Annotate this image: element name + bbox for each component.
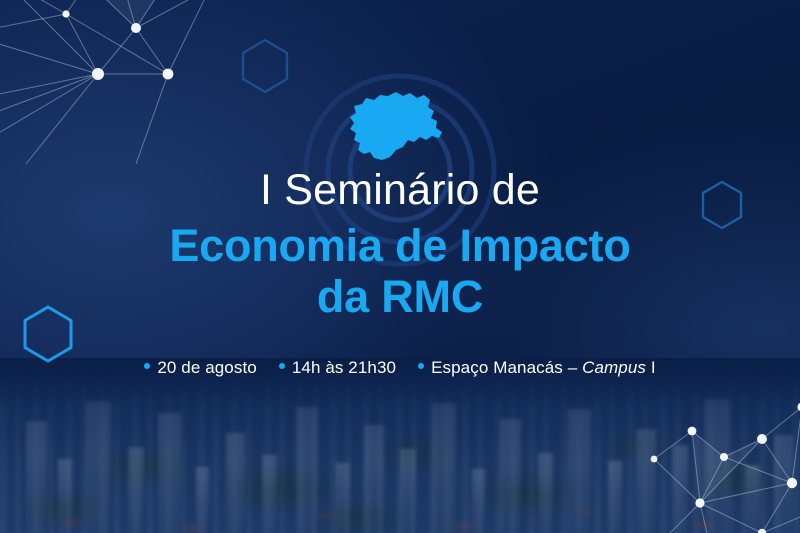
detail-item-date: 20 de agosto [144,358,257,378]
event-details: 20 de agosto 14h às 21h30 Espaço Manacás… [0,358,800,378]
headline-line-3: da RMC [0,271,800,322]
venue-name: Espaço Manacás – [431,358,582,377]
bullet-icon [144,363,150,369]
detail-venue-text: Espaço Manacás – Campus I [431,358,656,378]
region-map-icon [350,92,442,160]
bullet-icon [418,363,424,369]
aerial-cityscape-photo [0,358,800,533]
headline-block: I Seminário de Economia de Impacto da RM… [0,168,800,322]
venue-campus-number: I [646,358,656,377]
event-promo-banner: I Seminário de Economia de Impacto da RM… [0,0,800,533]
detail-item-time: 14h às 21h30 [279,358,396,378]
detail-time-text: 14h às 21h30 [292,358,396,378]
detail-item-venue: Espaço Manacás – Campus I [418,358,656,378]
headline-line-2: Economia de Impacto [0,220,800,271]
venue-campus-emphasis: Campus [582,358,646,377]
detail-date-text: 20 de agosto [157,358,257,378]
cityscape-blue-tint [0,358,800,533]
headline-line-1: I Seminário de [0,168,800,214]
bullet-icon [279,363,285,369]
